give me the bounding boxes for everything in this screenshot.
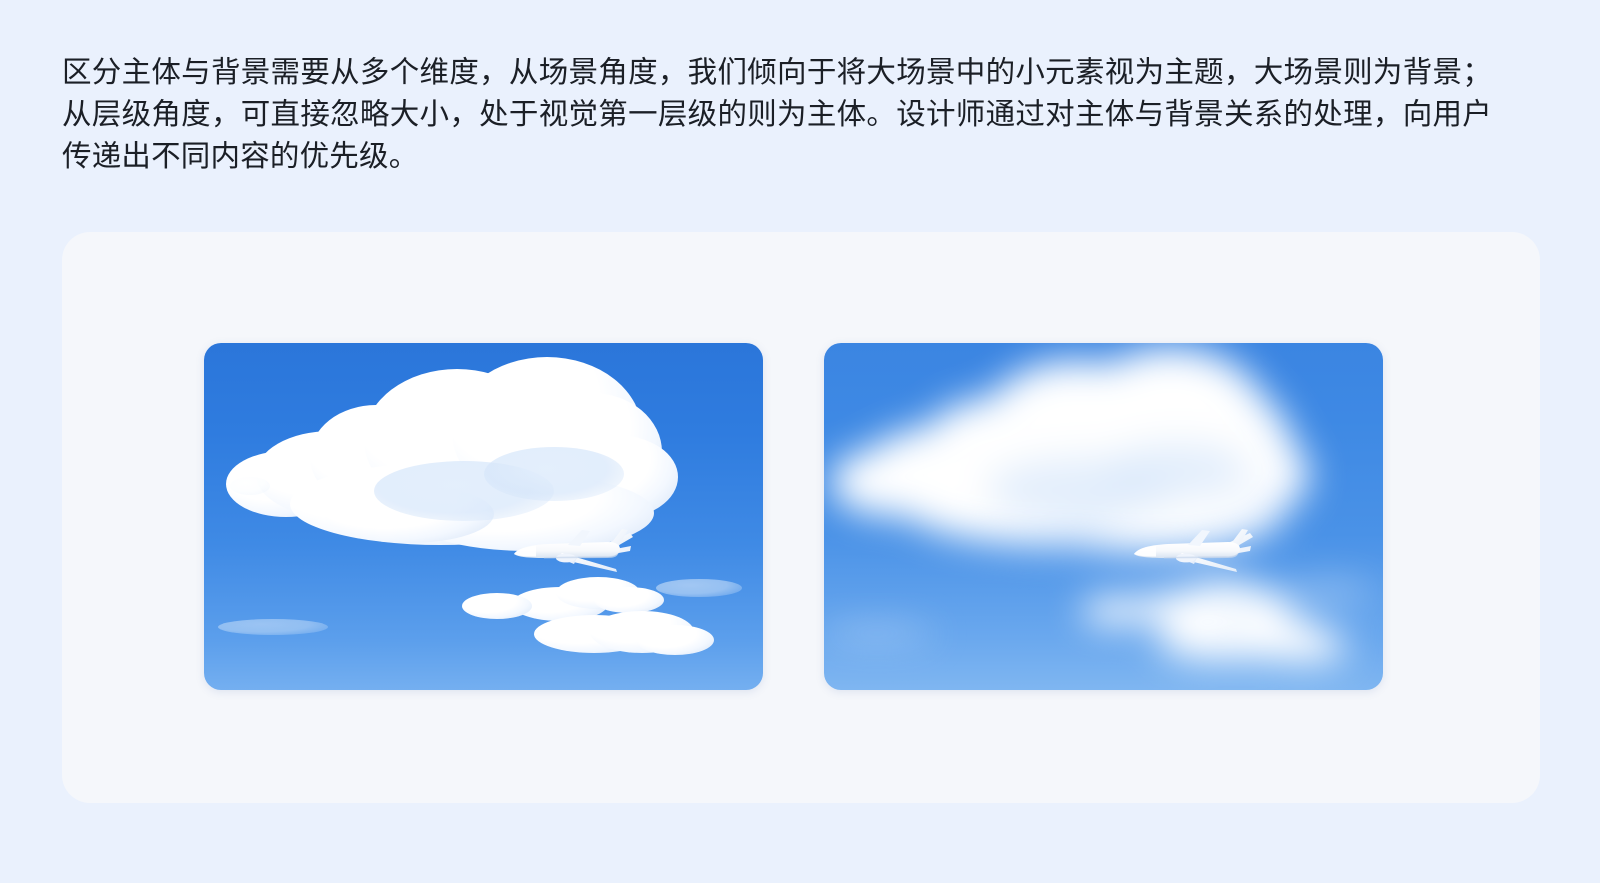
small-cloud-puff (1081, 598, 1155, 626)
airplane-icon (504, 523, 634, 579)
cloud-wisp (824, 625, 939, 642)
small-cloud-puff (636, 625, 714, 655)
small-cloud-puff (462, 593, 532, 619)
cloud-wisp (1286, 583, 1377, 602)
small-cloud-puff (1265, 632, 1348, 664)
illustration-card: 蓝天中一朵清晰的大积云，下方有几朵小云，一架白色客机从左向右飞行 (62, 232, 1540, 803)
figure-blurred-background: 同一场景，背景云层被虚化模糊，白色客机保持清晰成为视觉主体 (824, 343, 1383, 690)
cloud-layer-blurred (824, 343, 1383, 690)
page-root: 区分主体与背景需要从多个维度，从场景角度，我们倾向于将大场景中的小元素视为主题，… (0, 0, 1600, 883)
small-cloud-puff (1221, 591, 1295, 619)
cloud-shadow (484, 447, 624, 501)
cloud-wisp (656, 579, 742, 597)
cloud-wisp (230, 477, 270, 495)
cloud-wisp (218, 619, 328, 635)
figure-sharp-background: 蓝天中一朵清晰的大积云，下方有几朵小云，一架白色客机从左向右飞行 (204, 343, 763, 690)
body-paragraph: 区分主体与背景需要从多个维度，从场景角度，我们倾向于将大场景中的小元素视为主题，… (62, 52, 1492, 178)
cloud-wisp (835, 475, 877, 494)
small-cloud-puff (594, 587, 664, 613)
cloud-layer-sharp (204, 343, 763, 690)
cloud-shadow (1104, 443, 1252, 500)
airplane-icon (1124, 523, 1254, 579)
